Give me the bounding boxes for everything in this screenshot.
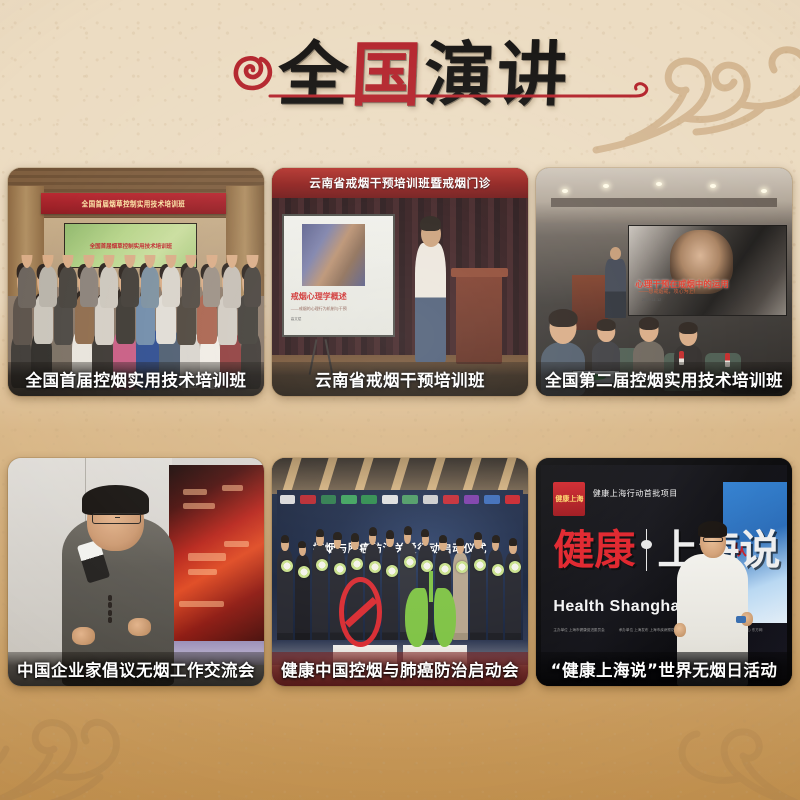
- screen-subtitle: ——想戒烟戒，攻心为上！: [639, 288, 699, 295]
- program-title-red: 健康: [553, 530, 635, 571]
- eyeglasses-icon: [703, 537, 723, 542]
- talk-speaker-hand-left: [674, 623, 686, 638]
- xiangyun-cloud-icon-bottom-left: [0, 689, 176, 800]
- photo-caption-bar: “健康上海说”世界无烟日活动: [536, 652, 792, 686]
- red-led-wall: [169, 465, 264, 666]
- photo-caption-bar: 健康中国控烟与肺癌防治启动会: [272, 652, 528, 686]
- screen-date: 2019.11.12: [642, 297, 662, 302]
- gallery-card-4[interactable]: 中国企业家倡议无烟工作交流会: [8, 458, 264, 686]
- slide-presenter: 高文斌: [291, 317, 302, 322]
- gallery-card-1[interactable]: 全国首届烟草控制实用技术培训班 全国首届烟草控制实用技术培训班: [8, 168, 264, 396]
- photo-caption-bar: 云南省戒烟干预培训班: [272, 362, 528, 396]
- hall-red-banner: 全国首届烟草控制实用技术培训班: [41, 193, 225, 214]
- photo-caption-5: 健康中国控烟与肺癌防治启动会: [281, 657, 519, 681]
- red-spiral-ornament-icon: [230, 50, 276, 96]
- credit-0: 主办单位 上海市健康促进委员会: [553, 628, 604, 633]
- speaker-hand-right: [128, 618, 151, 636]
- title-chars-yanjiang: 演讲: [422, 40, 571, 110]
- speaker-figure: [415, 243, 446, 362]
- slide-portrait-image: [302, 224, 365, 286]
- slide-title: 戒烟心理学概述: [291, 291, 347, 302]
- slide-subtitle: ——戒烟的心理行为机制与干预: [291, 306, 347, 312]
- jacket-buttons: [108, 595, 112, 646]
- title-char-quan: 全: [276, 40, 352, 110]
- poster-title-block: 全 国 演讲: [0, 16, 800, 134]
- program-subtitle: 健康上海行动首批项目: [593, 488, 678, 499]
- gallery-card-2[interactable]: 云南省戒烟干预培训班暨戒烟门诊 戒烟心理学概述 ——戒烟的心理行为机制与干预 高…: [272, 168, 528, 396]
- program-logo: 健康上海: [553, 482, 585, 516]
- ceremony-attendees: [275, 515, 526, 640]
- photo-caption-3: 全国第二届控烟实用技术培训班: [545, 367, 783, 391]
- sponsor-logo-strip: [280, 493, 521, 506]
- photo-caption-1: 全国首届控烟实用技术培训班: [26, 367, 247, 391]
- title-char-guo: 国: [349, 40, 425, 110]
- stage-screen: 从 健康上海 健康上海行动首批项目 健康 上海说 Health Shanghai…: [541, 465, 787, 679]
- gallery-card-6[interactable]: 从 健康上海 健康上海行动首批项目 健康 上海说 Health Shanghai…: [536, 458, 792, 686]
- photo-caption-bar: 全国第二届控烟实用技术培训班: [536, 362, 792, 396]
- speaker-hand-left: [72, 627, 95, 645]
- photo-gallery-grid: 全国首届烟草控制实用技术培训班 全国首届烟草控制实用技术培训班: [8, 168, 792, 686]
- photo-caption-6: “健康上海说”世界无烟日活动: [551, 657, 778, 681]
- wristwatch: [736, 616, 745, 623]
- xiangyun-cloud-icon-bottom-right: [649, 708, 800, 800]
- projection-screen: 戒烟心理学概述 ——戒烟的心理行为机制与干预 高文斌: [282, 214, 395, 337]
- talk-speaker-hair: [698, 521, 727, 537]
- led-screen: 心理干预在戒烟中的运用 ——想戒烟戒，攻心为上！ 2019.11.12: [628, 225, 787, 316]
- speaking-podium: [456, 273, 502, 364]
- projector-slide-text: 全国首届烟草控制实用技术培训班: [65, 242, 196, 250]
- photo-caption-bar: 中国企业家倡议无烟工作交流会: [8, 652, 264, 686]
- gallery-card-3[interactable]: 心理干预在戒烟中的运用 ——想戒烟戒，攻心为上！ 2019.11.12: [536, 168, 792, 396]
- hall-banner-text: 全国首届烟草控制实用技术培训班: [82, 198, 186, 210]
- lungs-icon: [405, 579, 456, 647]
- program-logo-text: 健康上海: [555, 494, 583, 504]
- photo-caption-2: 云南省戒烟干预培训班: [315, 367, 485, 391]
- photo-caption-bar: 全国首届控烟实用技术培训班: [8, 362, 264, 396]
- program-title-block: 健康 上海说: [553, 529, 780, 571]
- poster-canvas: 全 国 演讲 全国首届烟草控制实用技术培训班 全国首届烟草控制实用技术培训班: [0, 0, 800, 800]
- eyeglasses-icon: [92, 513, 141, 524]
- no-smoking-icon: [339, 577, 383, 648]
- stage-red-banner: 云南省戒烟干预培训班暨戒烟门诊: [272, 168, 528, 198]
- gallery-card-5[interactable]: 控烟与肺癌防治关爱行动启动仪式: [272, 458, 528, 686]
- speaker-hair: [82, 485, 149, 515]
- stage-banner-text: 云南省戒烟干预培训班暨戒烟门诊: [309, 175, 491, 191]
- oriental-pearl-tower-icon: [638, 529, 654, 571]
- photo-caption-4: 中国企业家倡议无烟工作交流会: [17, 657, 255, 681]
